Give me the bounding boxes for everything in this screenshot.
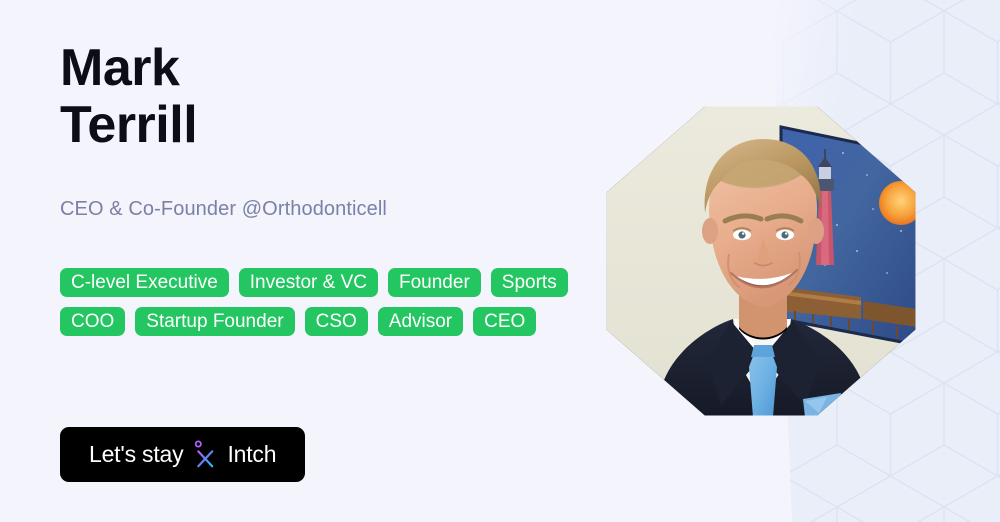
- tag-chip[interactable]: Investor & VC: [239, 268, 378, 297]
- profile-role: CEO & Co-Founder @Orthodonticell: [60, 198, 387, 221]
- tag-chip[interactable]: Sports: [491, 268, 568, 297]
- avatar: [605, 105, 917, 417]
- tag-chip[interactable]: CSO: [305, 307, 368, 336]
- profile-content: Mark Terrill CEO & Co-Founder @Orthodont…: [60, 0, 620, 522]
- tag-chip[interactable]: COO: [60, 307, 125, 336]
- tag-chip[interactable]: C-level Executive: [60, 268, 229, 297]
- tag-chip[interactable]: CEO: [473, 307, 536, 336]
- tag-chip[interactable]: Startup Founder: [135, 307, 294, 336]
- cta-label-prefix: Let's stay: [89, 441, 183, 468]
- intch-logo-icon: [192, 440, 218, 470]
- tag-list: C-level ExecutiveInvestor & VCFounderSpo…: [60, 268, 580, 336]
- avatar-photo: [605, 105, 917, 417]
- cta-label-brand: Intch: [227, 441, 276, 468]
- avatar-hexagon-clip: [605, 105, 917, 417]
- tag-chip[interactable]: Founder: [388, 268, 481, 297]
- lets-stay-intch-button[interactable]: Let's stay: [60, 427, 305, 482]
- page-title: Mark Terrill: [60, 40, 197, 154]
- profile-card: Mark Terrill CEO & Co-Founder @Orthodont…: [0, 0, 1000, 522]
- tag-chip[interactable]: Advisor: [378, 307, 463, 336]
